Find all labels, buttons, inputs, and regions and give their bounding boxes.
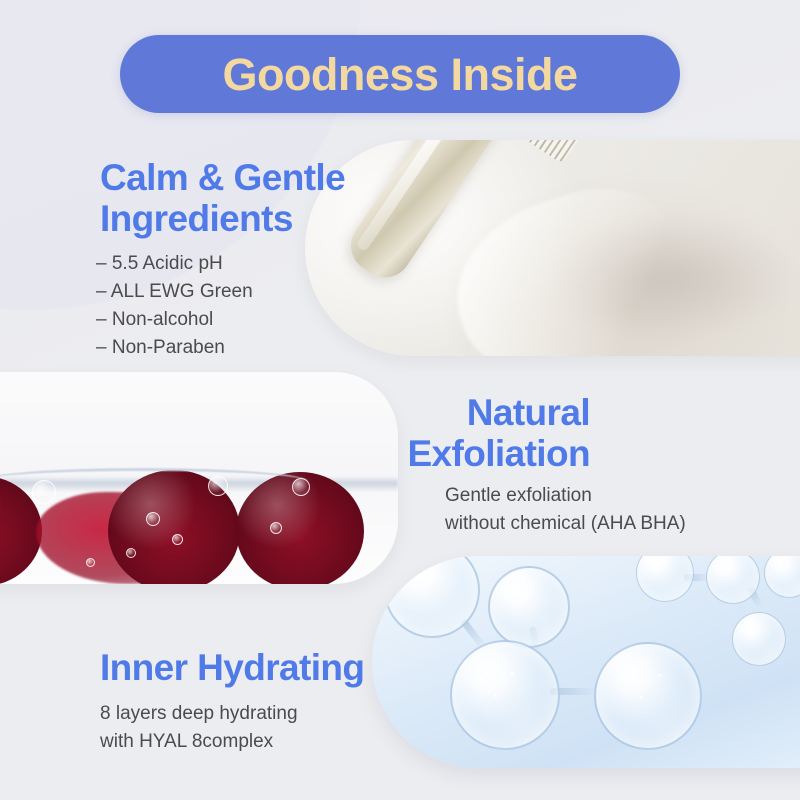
ingredient-list: – 5.5 Acidic pH – ALL EWG Green – Non-al… bbox=[96, 250, 253, 362]
section-body-inner-hydrating: 8 layers deep hydrating with HYAL 8compl… bbox=[100, 700, 400, 755]
molecule-bubble bbox=[488, 566, 570, 648]
section-heading-calm-gentle: Calm & Gentle Ingredients bbox=[100, 158, 400, 239]
molecule-bubble bbox=[594, 642, 702, 750]
section-body-natural-exfoliation: Gentle exfoliation without chemical (AHA… bbox=[445, 482, 745, 537]
water-bubble bbox=[208, 476, 228, 496]
sparkle bbox=[658, 674, 661, 677]
sparkle bbox=[480, 676, 483, 679]
molecule-bubble bbox=[764, 556, 800, 598]
section-heading-natural-exfoliation: Natural Exfoliation bbox=[320, 393, 590, 474]
tube-cap bbox=[514, 140, 620, 164]
page-title: Goodness Inside bbox=[222, 52, 577, 97]
photo-hydration-molecules bbox=[372, 556, 800, 768]
sparkle bbox=[512, 590, 515, 593]
water-bubble bbox=[146, 512, 160, 526]
product-infographic: Goodness Inside Calm & Gentle Ingredient… bbox=[0, 0, 800, 800]
sparkle bbox=[510, 672, 513, 675]
water-bubble bbox=[270, 522, 282, 534]
water-bubble bbox=[126, 548, 136, 558]
header-banner: Goodness Inside bbox=[120, 35, 680, 113]
sparkle bbox=[624, 678, 627, 681]
molecule-bubble bbox=[732, 612, 786, 666]
list-item: – Non-Paraben bbox=[96, 334, 253, 362]
list-item: – ALL EWG Green bbox=[96, 278, 253, 306]
water-bubble bbox=[292, 478, 310, 496]
water-bubble bbox=[172, 534, 183, 545]
sparkle bbox=[640, 696, 643, 699]
sparkle bbox=[412, 574, 415, 577]
water-bubble bbox=[86, 558, 95, 567]
list-item: – Non-alcohol bbox=[96, 306, 253, 334]
molecule-bubble bbox=[450, 640, 560, 750]
water-bubble bbox=[32, 480, 56, 504]
sparkle bbox=[494, 694, 497, 697]
list-item: – 5.5 Acidic pH bbox=[96, 250, 253, 278]
molecule-bubble bbox=[636, 556, 694, 602]
section-heading-inner-hydrating: Inner Hydrating bbox=[100, 648, 430, 689]
